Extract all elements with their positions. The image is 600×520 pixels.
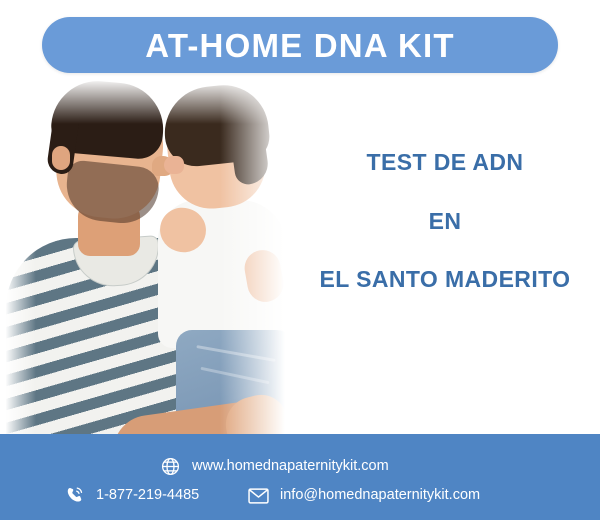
headline-block: TEST DE ADN EN EL SANTO MADERITO (300, 150, 590, 291)
child-nose (164, 156, 184, 174)
headline-line-2: EN (300, 209, 590, 233)
envelope-icon (248, 485, 269, 506)
footer-email[interactable]: info@homednapaternitykit.com (248, 485, 480, 506)
father-ear (52, 146, 70, 170)
title-banner: AT-HOME DNA KIT (42, 17, 558, 73)
footer-phone[interactable]: 1-877-219-4485 (64, 485, 199, 506)
phone-icon (64, 485, 85, 506)
family-photo-illustration (0, 78, 310, 448)
footer-phone-label: 1-877-219-4485 (96, 488, 199, 503)
footer-website[interactable]: www.homednapaternitykit.com (160, 456, 389, 477)
poster-canvas: AT-HOME DNA KIT (0, 0, 600, 520)
photo-fade-right (220, 78, 310, 448)
title-banner-text: AT-HOME DNA KIT (145, 29, 454, 62)
family-photo (0, 78, 310, 448)
globe-icon (160, 456, 181, 477)
contact-footer: www.homednapaternitykit.com 1-877-219-44… (0, 434, 600, 520)
footer-website-label: www.homednapaternitykit.com (192, 459, 389, 474)
photo-fade-left (0, 78, 36, 448)
headline-line-3: EL SANTO MADERITO (300, 267, 590, 291)
headline-line-1: TEST DE ADN (300, 150, 590, 174)
footer-email-label: info@homednapaternitykit.com (280, 488, 480, 503)
